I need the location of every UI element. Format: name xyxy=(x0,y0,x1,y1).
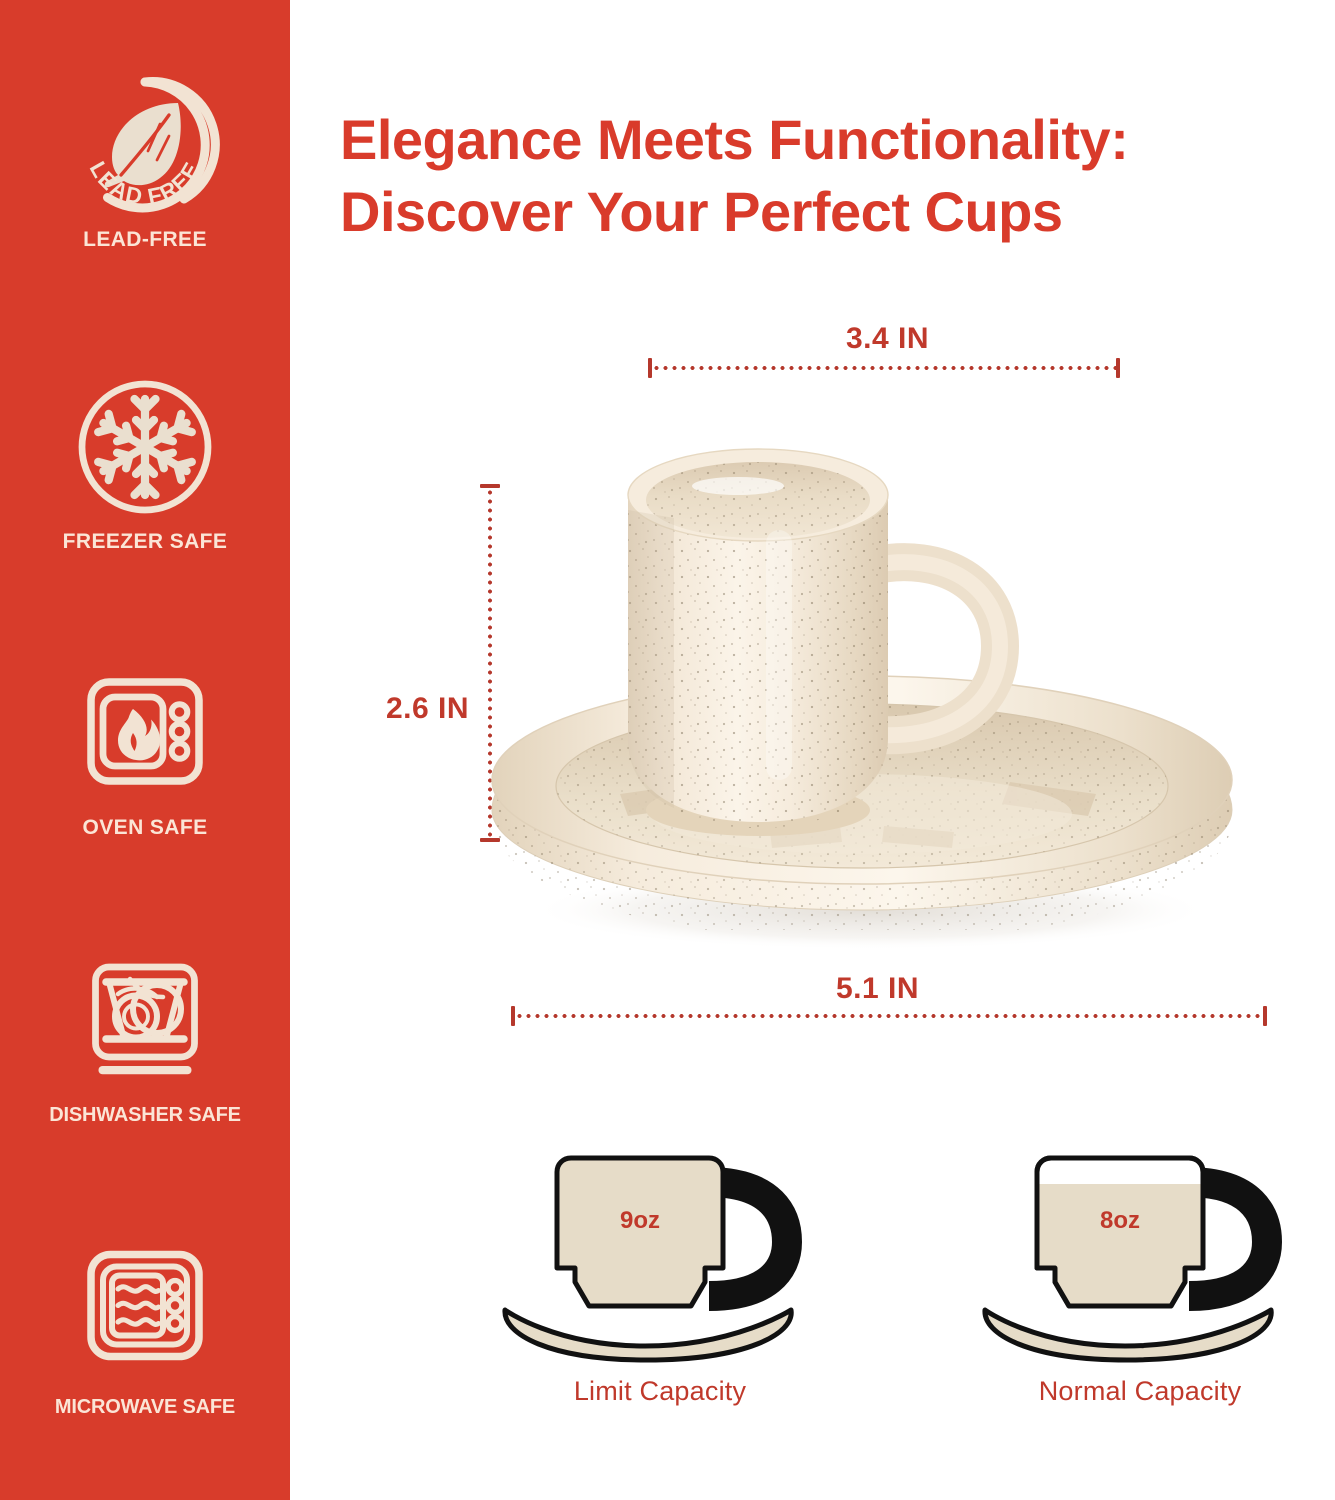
product-photo xyxy=(470,390,1300,970)
badge-microwave-safe: MICROWAVE SAFE xyxy=(0,1238,290,1419)
oven-flame-icon xyxy=(70,658,220,808)
capacity-cup-limit-icon: 9oz xyxy=(495,1150,825,1370)
dimension-label-saucer-width: 5.1 IN xyxy=(836,972,919,1006)
capacity-volume-limit: 9oz xyxy=(620,1207,660,1234)
title-line-1: Elegance Meets Functionality: xyxy=(340,104,1310,176)
microwave-icon xyxy=(70,1238,220,1388)
badge-label: DISHWASHER SAFE xyxy=(49,1104,240,1127)
dimension-dots xyxy=(515,1014,1263,1018)
capacity-normal: 8oz Normal Capacity xyxy=(940,1150,1335,1407)
infographic-page: LEAD FREE LEAD-FREE xyxy=(0,0,1335,1500)
capacity-volume-normal: 8oz xyxy=(1100,1207,1140,1234)
badge-label: OVEN SAFE xyxy=(83,816,208,840)
capacity-caption-normal: Normal Capacity xyxy=(1039,1376,1242,1407)
dimension-label-cup-height: 2.6 IN xyxy=(386,692,469,726)
dimension-label-cup-width: 3.4 IN xyxy=(846,322,929,356)
badge-oven-safe: OVEN SAFE xyxy=(0,658,290,840)
capacity-caption-limit: Limit Capacity xyxy=(574,1376,746,1407)
feature-badge-rail: LEAD FREE LEAD-FREE xyxy=(0,0,290,1500)
dimension-line-cup-width xyxy=(648,358,1120,378)
capacity-cup-normal-icon: 8oz xyxy=(975,1150,1305,1370)
badge-label: MICROWAVE SAFE xyxy=(55,1396,235,1419)
capacity-limit: 9oz Limit Capacity xyxy=(460,1150,860,1407)
dimension-cap-right xyxy=(1116,358,1120,378)
badge-lead-free: LEAD FREE LEAD-FREE xyxy=(0,70,290,252)
page-title: Elegance Meets Functionality: Discover Y… xyxy=(340,104,1310,247)
badge-label: FREEZER SAFE xyxy=(63,530,228,554)
dimension-cap-right xyxy=(1263,1006,1267,1026)
title-line-2: Discover Your Perfect Cups xyxy=(340,176,1310,248)
badge-freezer-safe: FREEZER SAFE xyxy=(0,372,290,554)
badge-label: LEAD-FREE xyxy=(83,228,207,252)
dishwasher-icon xyxy=(70,946,220,1096)
dimension-dots xyxy=(652,366,1116,370)
leaf-lead-free-icon: LEAD FREE xyxy=(70,70,220,220)
badge-dishwasher-safe: DISHWASHER SAFE xyxy=(0,946,290,1127)
dimension-line-saucer-width xyxy=(511,1006,1267,1026)
snowflake-icon xyxy=(70,372,220,522)
